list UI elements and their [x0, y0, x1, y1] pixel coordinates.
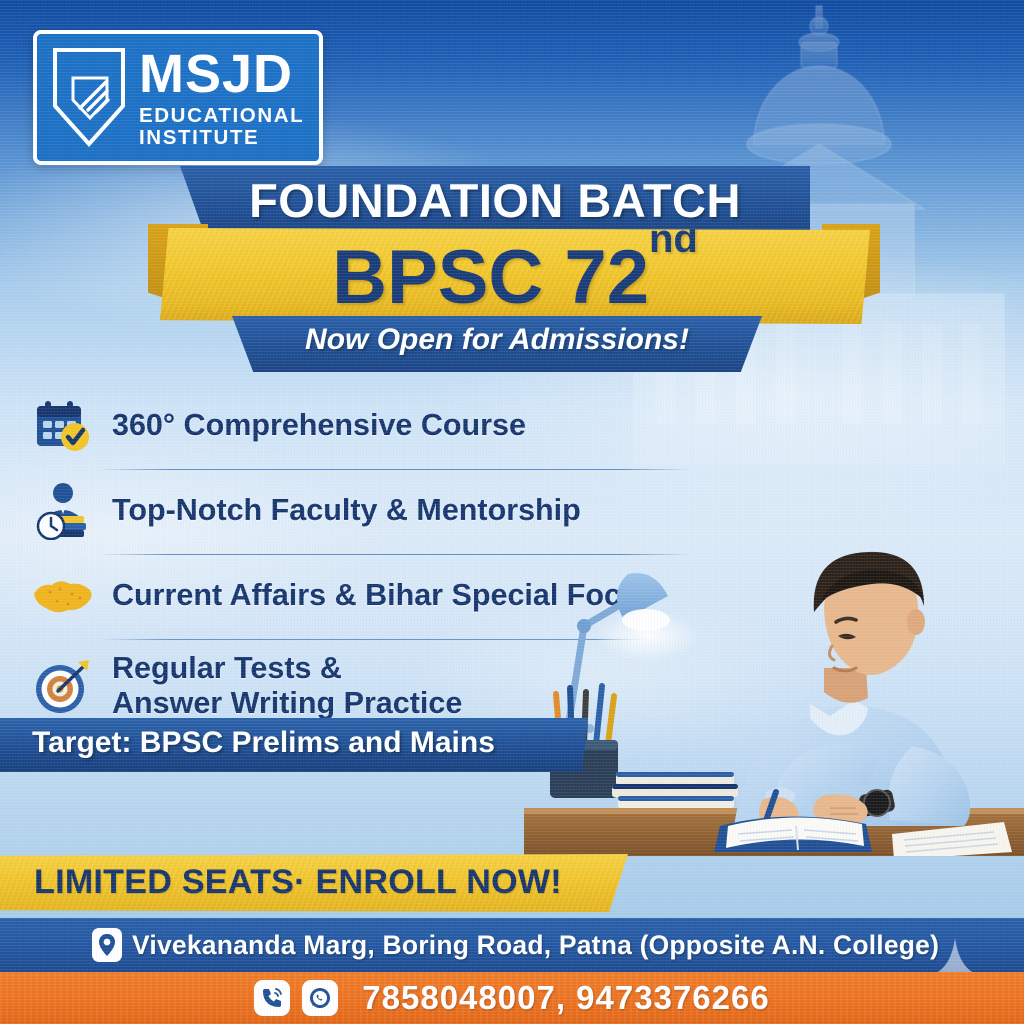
target-band-text: Target: BPSC Prelims and Mains: [32, 726, 495, 760]
brand-logo[interactable]: MSJD EDUCATIONAL INSTITUTE: [33, 30, 323, 165]
desk-surface: [524, 808, 1024, 856]
ribbon-foundation-batch-text: FOUNDATION BATCH: [180, 173, 810, 228]
feature-separator: [100, 469, 690, 470]
feature-item-faculty-mentorship: Top-Notch Faculty & Mentorship: [30, 477, 710, 547]
ribbon-foundation-batch: FOUNDATION BATCH: [180, 166, 810, 236]
feature-label-line1: Regular Tests &: [112, 651, 342, 685]
feature-item-current-affairs-bihar: Current Affairs & Bihar Special Focus: [30, 562, 710, 632]
ribbon-exam-title: BPSC 72nd: [160, 228, 870, 324]
location-pin-icon: [92, 928, 122, 962]
feature-label: 360° Comprehensive Course: [112, 408, 526, 443]
calendar-check-icon: [30, 396, 96, 456]
loose-papers: [892, 822, 1012, 856]
feature-label: Regular Tests & Answer Writing Practice: [112, 651, 462, 721]
student-figure: [734, 552, 970, 840]
cta-banner[interactable]: LIMITED SEATS· ENROLL NOW!: [0, 854, 628, 912]
ribbon-exam-title-text: BPSC 72nd: [160, 234, 870, 321]
feature-item-tests-answer-writing: Regular Tests & Answer Writing Practice: [30, 647, 710, 727]
headline-ribbons: FOUNDATION BATCH BPSC 72nd Now Open for …: [0, 166, 1024, 388]
ribbon-admissions-open: Now Open for Admissions!: [232, 316, 762, 372]
phone-ring-icon[interactable]: [254, 980, 290, 1016]
poster-canvas: MSJD EDUCATIONAL INSTITUTE FOUNDATION BA…: [0, 0, 1024, 1024]
feature-label: Current Affairs & Bihar Special Focus: [112, 578, 657, 613]
feature-label: Top-Notch Faculty & Mentorship: [112, 493, 581, 528]
bihar-map-icon: [30, 566, 96, 626]
feature-label-line2: Answer Writing Practice: [112, 686, 462, 720]
logo-subtitle-line1: EDUCATIONAL: [139, 106, 304, 127]
cta-banner-text: LIMITED SEATS· ENROLL NOW!: [34, 863, 562, 902]
ribbon-admissions-open-text: Now Open for Admissions!: [232, 323, 762, 357]
feature-separator: [100, 554, 690, 555]
faculty-mentor-icon: [30, 481, 96, 541]
feature-item-comprehensive-course: 360° Comprehensive Course: [30, 392, 710, 462]
open-notebook: [714, 816, 872, 852]
feature-list: 360° Comprehensive Course Top-Notch Facu…: [30, 392, 710, 727]
contact-bar[interactable]: 7858048007, 9473376266: [0, 972, 1024, 1024]
shield-icon: [49, 44, 129, 152]
feature-separator: [100, 639, 660, 640]
address-bar: Vivekananda Marg, Boring Road, Patna (Op…: [0, 918, 1024, 972]
contact-numbers: 7858048007, 9473376266: [362, 979, 769, 1017]
target-band: Target: BPSC Prelims and Mains: [0, 718, 588, 772]
target-arrow-icon: [30, 656, 96, 716]
exam-name: BPSC 72: [332, 235, 649, 320]
logo-subtitle-line2: INSTITUTE: [139, 128, 304, 149]
address-text: Vivekananda Marg, Boring Road, Patna (Op…: [132, 930, 939, 961]
stacked-books: [612, 772, 738, 808]
whatsapp-icon[interactable]: [302, 980, 338, 1016]
logo-wordmark: MSJD: [139, 47, 304, 101]
